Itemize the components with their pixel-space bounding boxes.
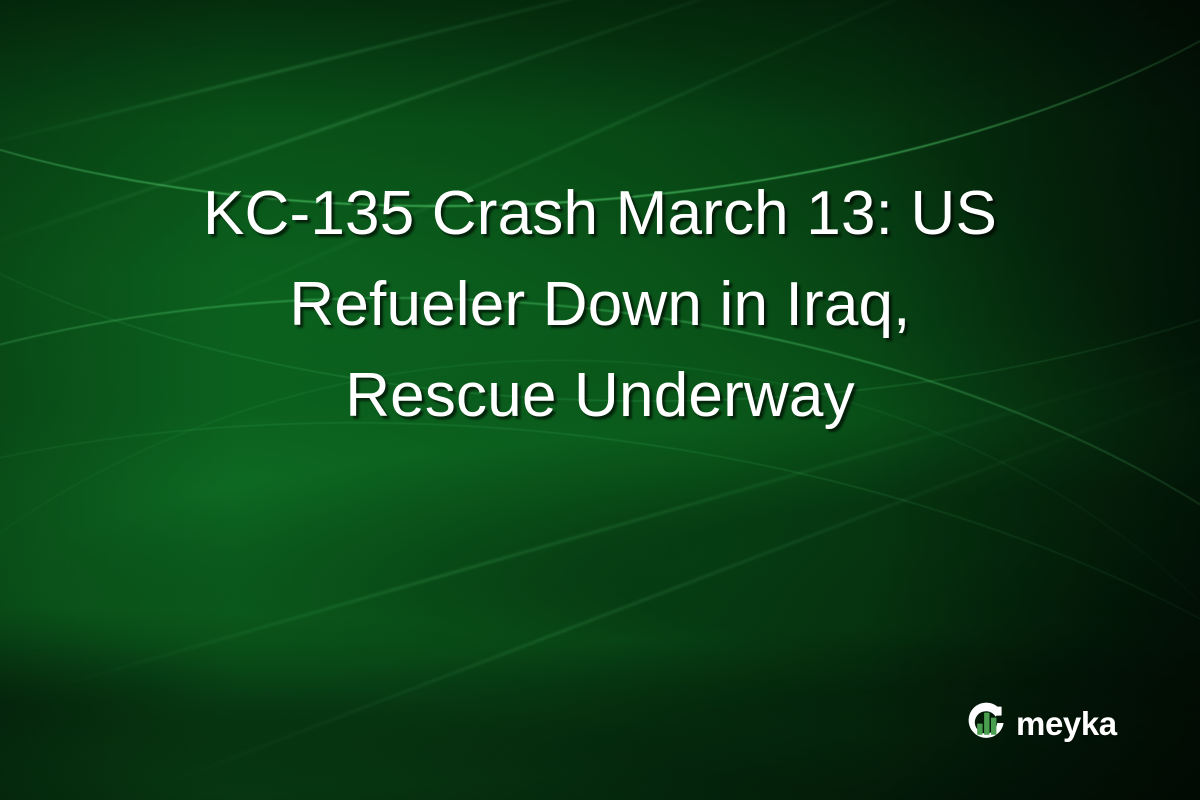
light-streak-1: [0, 0, 1028, 152]
page-title: KC-135 Crash March 13: US Refueler Down …: [0, 168, 1200, 441]
title-line-3: Rescue Underway: [60, 350, 1140, 441]
social-card: KC-135 Crash March 13: US Refueler Down …: [0, 0, 1200, 800]
brand-logo: meyka: [963, 700, 1117, 746]
title-line-2: Refueler Down in Iraq,: [60, 259, 1140, 350]
title-line-1: KC-135 Crash March 13: US: [60, 168, 1140, 259]
brand-wordmark: meyka: [1016, 707, 1117, 740]
meyka-logo-icon: [963, 700, 1009, 746]
